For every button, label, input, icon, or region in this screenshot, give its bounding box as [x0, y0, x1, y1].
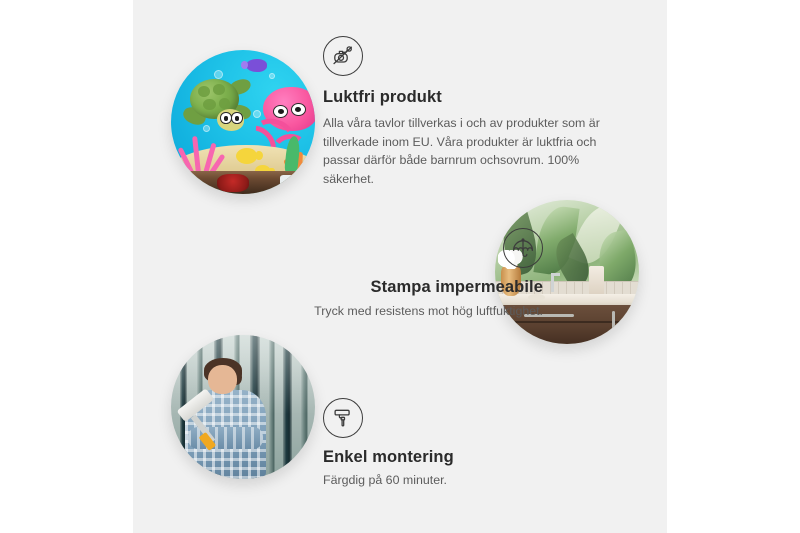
- faucet: [551, 273, 554, 292]
- towel: [589, 266, 605, 295]
- bubble-icon: [269, 73, 275, 79]
- bubble-icon: [203, 125, 210, 132]
- forest-artwork: [171, 335, 315, 479]
- fish-blue-icon: [246, 59, 268, 72]
- feature-body: Tryck med resistens mot hög luftfuktighe…: [213, 302, 543, 321]
- product-feature-panel: Luktfri produkt Alla våra tavlor tillver…: [133, 0, 667, 533]
- door-handle: [612, 311, 615, 333]
- turtle-head: [217, 109, 244, 131]
- feature-title: Enkel montering: [323, 448, 613, 467]
- feature-body: Alla våra tavlor tillverkas i och av pro…: [323, 114, 623, 188]
- product-image-forest[interactable]: [171, 335, 315, 479]
- umbrella-icon: [503, 228, 543, 268]
- feature-odourless: Luktfri produkt Alla våra tavlor tillver…: [323, 36, 623, 188]
- screenshot-root: Luktfri produkt Alla våra tavlor tillver…: [0, 0, 800, 533]
- feature-body: Färgdig på 60 minuter.: [323, 471, 613, 490]
- octopus-eye: [273, 105, 288, 118]
- sea-foreground-strip: [171, 171, 315, 194]
- coral-pink: [183, 136, 219, 173]
- feature-title: Stampa impermeabile: [213, 278, 543, 297]
- turtle-eye: [231, 112, 242, 124]
- feature-title: Luktfri produkt: [323, 88, 623, 107]
- octopus-eye: [291, 103, 306, 116]
- turtle-eye: [220, 112, 231, 124]
- person-head: [208, 365, 237, 394]
- fish-yellow-icon: [236, 148, 258, 164]
- no-fragrance-icon: [323, 36, 363, 76]
- icon-wrapper: [213, 228, 543, 268]
- sea-artwork: [171, 50, 315, 194]
- paint-roller-icon: [323, 398, 363, 438]
- feature-waterproof: Stampa impermeabile Tryck med resistens …: [213, 228, 543, 321]
- product-image-sea[interactable]: [171, 50, 315, 194]
- feature-mounting: Enkel montering Färgdig på 60 minuter.: [323, 398, 613, 490]
